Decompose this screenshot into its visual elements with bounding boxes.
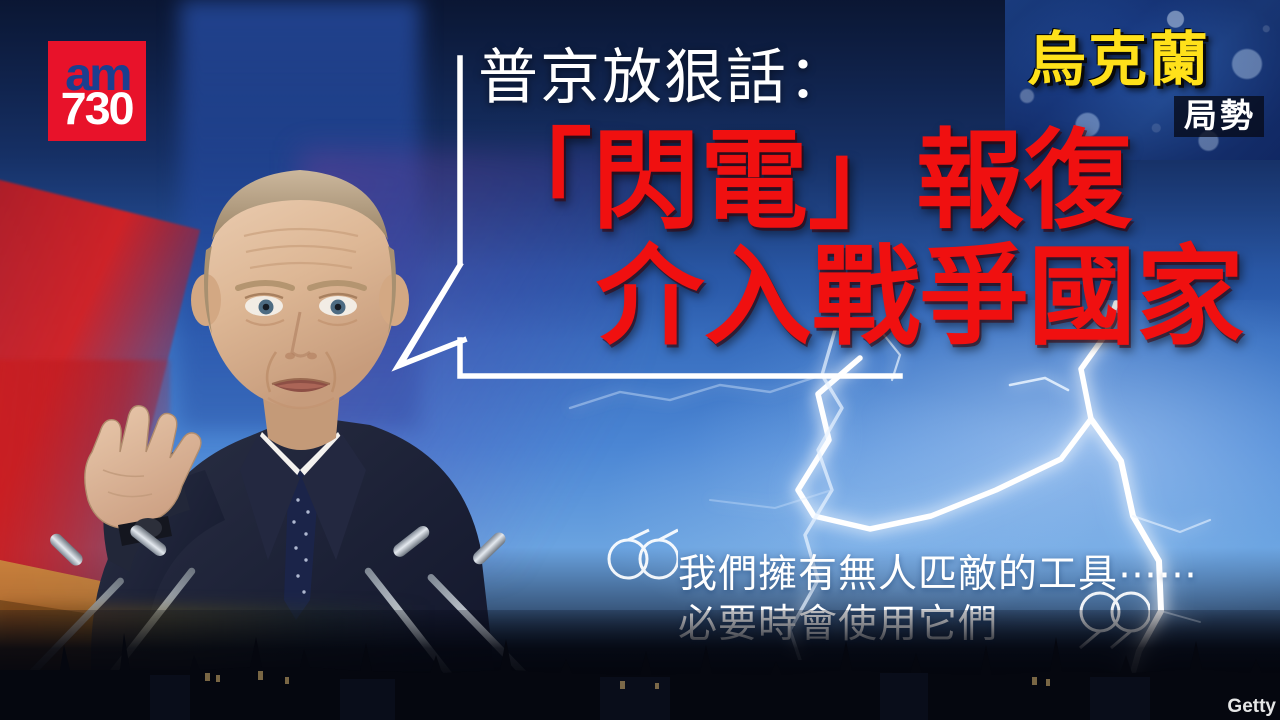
headline-kicker: 普京放狠話： (478, 48, 850, 108)
headline-line-1: 「閃電」報復 (484, 128, 1132, 236)
news-graphic: am 730 烏克蘭 局勢 普京放狠話： 「閃電」報復 介入戰爭國家 我們擁有無… (0, 0, 1280, 720)
headline-line-2: 介入戰爭國家 (596, 244, 1244, 352)
am730-logo[interactable]: am 730 (48, 41, 146, 141)
logo-730-text: 730 (61, 90, 133, 129)
getty-watermark: Getty (1227, 696, 1276, 718)
badge-title: 烏克蘭 (1027, 30, 1263, 89)
city-skyline-silhouette (0, 615, 1280, 720)
badge-subtitle: 局勢 (1174, 96, 1264, 137)
pull-quote-line-1: 我們擁有無人匹敵的工具⋯⋯ (678, 550, 1198, 600)
open-quote-icon (606, 528, 678, 588)
